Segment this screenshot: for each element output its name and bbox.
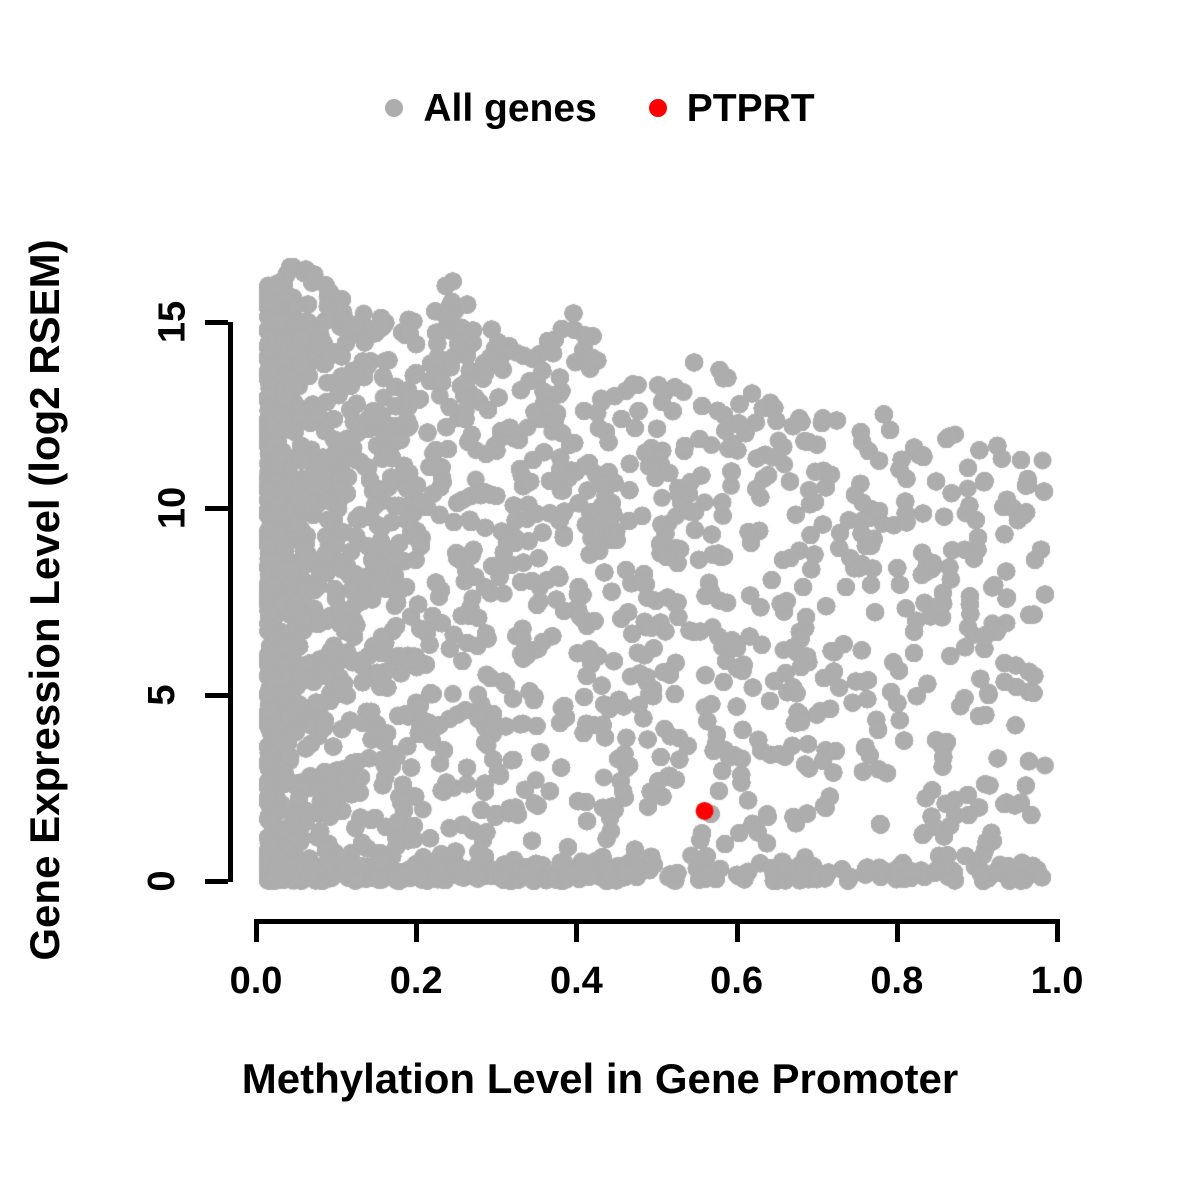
scatter-points-canvas (0, 0, 1200, 1200)
y-tick-0 (205, 879, 228, 884)
legend-entry-ptprt: PTPRT (649, 89, 815, 128)
y-tick-label-15: 15 (152, 301, 195, 343)
x-tick-label-1.0: 1.0 (1031, 960, 1084, 1003)
x-tick-label-0.2: 0.2 (390, 960, 443, 1003)
x-tick-0.0 (254, 919, 259, 942)
legend-label-all-genes: All genes (423, 89, 596, 128)
legend-label-ptprt: PTPRT (687, 89, 815, 128)
x-axis-title: Methylation Level in Gene Promoter (0, 1055, 1200, 1103)
x-tick-label-0.4: 0.4 (550, 960, 603, 1003)
legend: All genes PTPRT (0, 78, 1200, 138)
x-tick-0.2 (414, 919, 419, 942)
x-axis-line (256, 919, 1058, 924)
x-tick-1.0 (1055, 919, 1060, 942)
x-tick-label-0.6: 0.6 (710, 960, 763, 1003)
y-tick-label-0: 0 (141, 870, 184, 891)
x-tick-0.6 (735, 919, 740, 942)
y-tick-label-5: 5 (141, 684, 184, 705)
x-tick-0.8 (895, 919, 900, 942)
x-tick-label-0.0: 0.0 (230, 960, 283, 1003)
y-tick-10 (205, 506, 228, 511)
x-tick-label-0.8: 0.8 (870, 960, 923, 1003)
y-axis-line (228, 322, 233, 882)
y-tick-15 (205, 320, 228, 325)
x-tick-0.4 (574, 919, 579, 942)
legend-entry-all-genes: All genes (385, 89, 596, 128)
y-tick-5 (205, 693, 228, 698)
legend-swatch-all-genes-icon (385, 99, 403, 117)
y-tick-label-10: 10 (152, 487, 195, 529)
legend-swatch-ptprt-icon (649, 99, 667, 117)
y-axis-title: Gene Expression Level (log2 RSEM) (21, 150, 69, 1050)
scatter-plot-figure: All genes PTPRT 0.00.20.40.60.81.0 05101… (0, 0, 1200, 1200)
